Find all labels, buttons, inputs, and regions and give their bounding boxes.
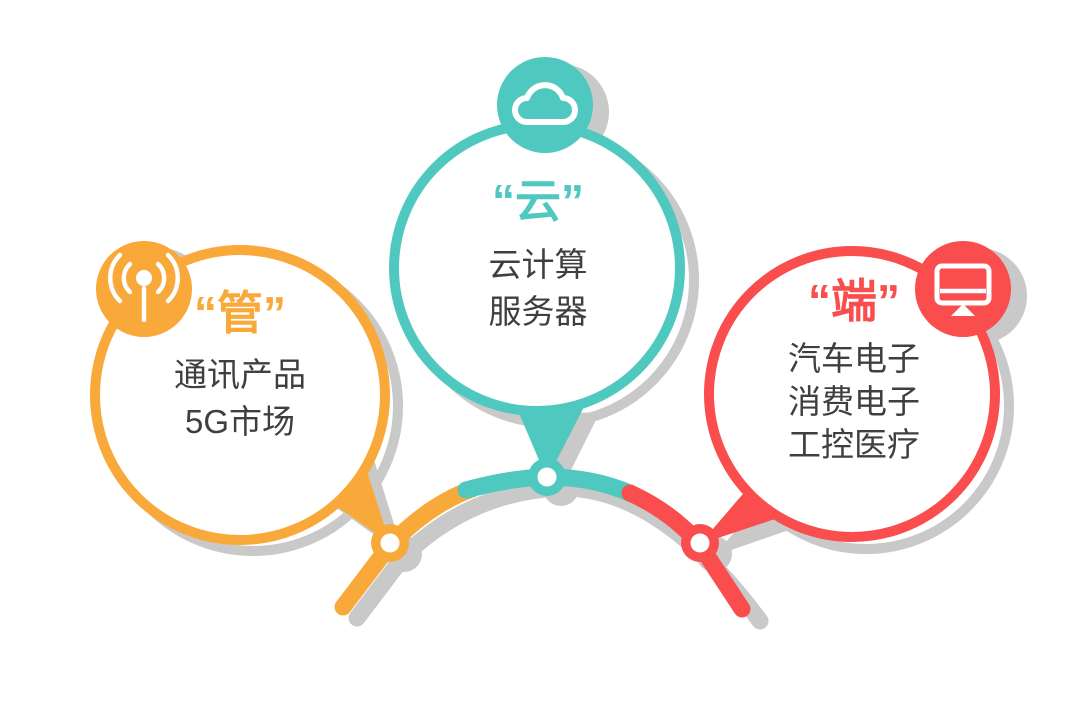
yun-line-2: 服务器 — [394, 295, 682, 328]
yun-label-block: “云” 云计算 服务器 — [394, 178, 682, 342]
duan-line-3: 工控医疗 — [710, 428, 998, 461]
guan-key-label: “管” — [95, 290, 385, 336]
guan-label-block: “管” 通讯产品 5G市场 — [95, 290, 385, 452]
guan-line-2: 5G市场 — [95, 405, 385, 438]
orange-joint-hole — [381, 534, 400, 553]
duan-label-block: “端” 汽车电子 消费电子 工控医疗 — [710, 278, 998, 471]
yun-line-1: 云计算 — [394, 248, 682, 281]
diagram-canvas: “管” 通讯产品 5G市场 “云” 云计算 服务器 “端” 汽车电子 消费电子 … — [0, 0, 1080, 716]
cloud-badge[interactable] — [497, 57, 593, 153]
guan-line-1: 通讯产品 — [95, 358, 385, 391]
duan-line-1: 汽车电子 — [710, 342, 998, 375]
red-joint-hole — [691, 534, 710, 553]
yun-key-label: “云” — [394, 178, 682, 224]
duan-line-2: 消费电子 — [710, 385, 998, 418]
cloud-badge-circle — [497, 57, 593, 153]
duan-key-label: “端” — [710, 278, 998, 324]
cyan-joint-hole — [538, 468, 557, 487]
